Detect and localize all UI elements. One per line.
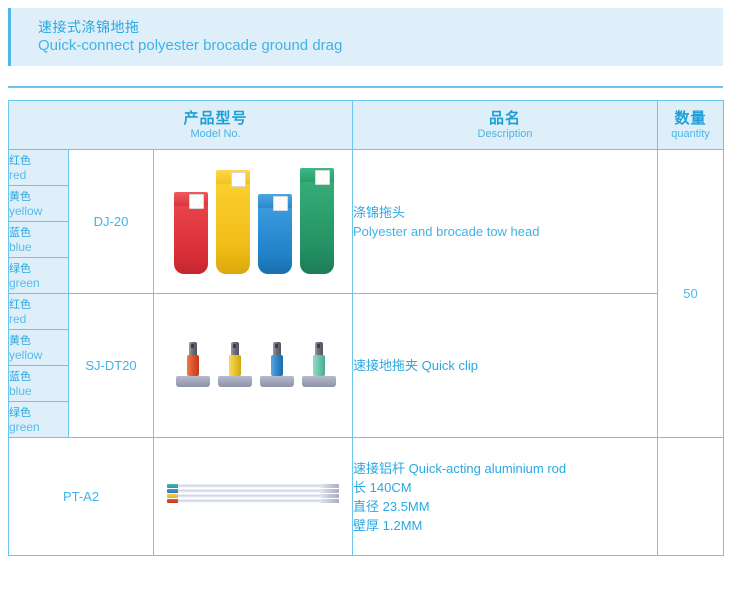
color-swatch-red: 红色 red [9,150,69,186]
aluminium-rods-illustration [167,484,339,510]
column-header-description: 品名 Description [353,101,658,150]
description-line-mixed: 速接铝杆 Quick-acting aluminium rod [353,459,657,478]
column-header-model-cn: 产品型号 [79,110,352,127]
quick-clip-yellow [218,342,252,387]
color-label-cn: 绿色 [9,262,68,276]
clip-base [302,376,336,387]
mop-label-tag [231,172,246,187]
page-title-english: Quick-connect polyester brocade ground d… [38,37,342,54]
color-label-en: yellow [9,204,68,218]
product-image-quick-clips [154,294,353,438]
color-label-cn: 绿色 [9,406,68,420]
mop-head-yellow [216,170,250,274]
page-title-banner: 速接式涤锦地拖 Quick-connect polyester brocade … [8,8,723,66]
header-divider [8,86,723,88]
quick-clip-blue [260,342,294,387]
color-swatch-yellow: 黄色 yellow [9,186,69,222]
color-swatch-yellow: 黄色 yellow [9,330,69,366]
mop-head-green [300,168,334,274]
description-quick-clip: 速接地拖夹 Quick clip [353,294,658,438]
table-row: 红色 red DJ-20 [9,150,724,186]
color-label-en: yellow [9,348,68,362]
color-label-en: red [9,168,68,182]
column-header-model: 产品型号 Model No. [9,101,353,150]
color-label-cn: 蓝色 [9,226,68,240]
color-label-en: blue [9,240,68,254]
clip-metal-connector [189,342,197,355]
clip-metal-connector [273,342,281,355]
page-title-chinese: 速接式涤锦地拖 [38,17,140,37]
color-swatch-green: 绿色 green [9,402,69,438]
mop-head-red [174,192,208,274]
table-row: PT-A2 [9,438,724,556]
quantity-value-empty [658,438,724,556]
color-label-cn: 红色 [9,298,68,312]
product-table: 产品型号 Model No. 品名 Description 数量 quantit… [8,100,724,556]
aluminium-rod-teal [167,484,339,488]
title-accent-bar [8,8,11,66]
color-swatch-green: 绿色 green [9,258,69,294]
rod-ferrule [321,499,339,503]
quick-clip-green [302,342,336,387]
description-line-length: 长 140CM [353,478,657,497]
quantity-value: 50 [658,150,724,438]
model-number-pta2: PT-A2 [9,438,154,556]
description-line-mixed: 速接地拖夹 Quick clip [353,356,657,375]
description-mop-head: 涤锦拖头 Polyester and brocade tow head [353,150,658,294]
color-label-en: blue [9,384,68,398]
color-swatch-red: 红色 red [9,294,69,330]
color-label-cn: 黄色 [9,190,68,204]
description-aluminium-rod: 速接铝杆 Quick-acting aluminium rod 长 140CM … [353,438,658,556]
column-header-quantity-cn: 数量 [658,110,723,127]
color-swatch-blue: 蓝色 blue [9,222,69,258]
clip-base [218,376,252,387]
mop-label-tag [189,194,204,209]
mop-heads-illustration [166,162,341,282]
description-line-en: Polyester and brocade tow head [353,222,657,241]
color-label-cn: 蓝色 [9,370,68,384]
aluminium-rod-yellow [167,494,339,498]
clip-metal-connector [231,342,239,355]
mop-head-blue [258,194,292,274]
column-header-description-cn: 品名 [353,110,657,127]
model-number-dj20: DJ-20 [69,150,154,294]
quick-clips-illustration [166,335,341,397]
color-swatch-blue: 蓝色 blue [9,366,69,402]
model-number-sjdt20: SJ-DT20 [69,294,154,438]
rod-ferrule [321,494,339,498]
mop-label-tag [315,170,330,185]
table-header-row: 产品型号 Model No. 品名 Description 数量 quantit… [9,101,724,150]
description-line-diameter: 直径 23.5MM [353,497,657,516]
aluminium-rod-red [167,499,339,503]
aluminium-rod-blue [167,489,339,493]
column-header-description-en: Description [353,127,657,141]
column-header-quantity-en: quantity [658,127,723,141]
color-label-en: green [9,420,68,434]
color-label-cn: 红色 [9,154,68,168]
mop-label-tag [273,196,288,211]
clip-metal-connector [315,342,323,355]
description-line-wall-thickness: 壁厚 1.2MM [353,516,657,535]
rod-ferrule [321,489,339,493]
product-image-mop-heads [154,150,353,294]
table-row: 红色 red SJ-DT20 [9,294,724,330]
column-header-quantity: 数量 quantity [658,101,724,150]
product-image-aluminium-rods [154,438,353,556]
rod-ferrule [321,484,339,488]
color-label-en: green [9,276,68,290]
description-line-cn: 涤锦拖头 [353,203,657,222]
quick-clip-red [176,342,210,387]
column-header-model-en: Model No. [79,127,352,141]
color-label-en: red [9,312,68,326]
color-label-cn: 黄色 [9,334,68,348]
clip-base [176,376,210,387]
clip-base [260,376,294,387]
